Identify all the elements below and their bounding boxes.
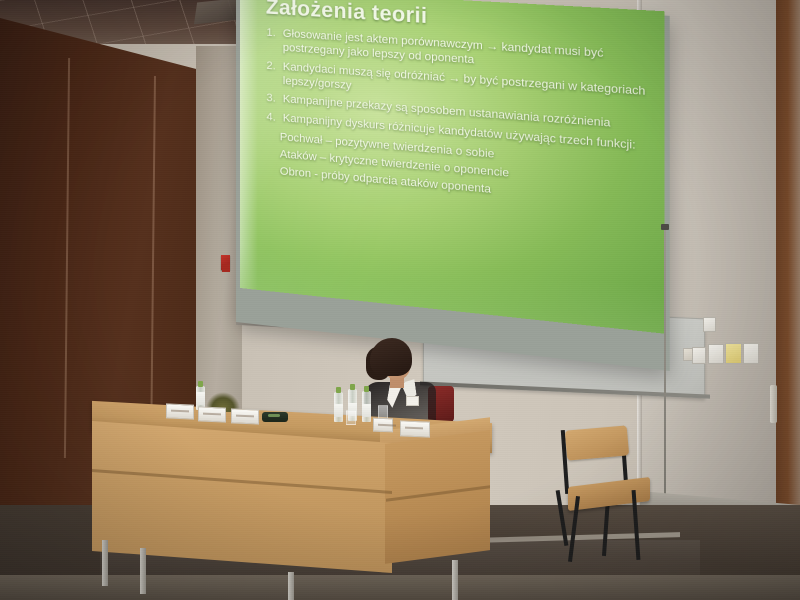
name-card	[166, 403, 194, 419]
wall-switch[interactable]	[703, 317, 716, 332]
empty-chair[interactable]	[548, 424, 654, 570]
panel-seam	[150, 76, 156, 456]
name-badge	[406, 396, 419, 406]
table-leg	[288, 572, 294, 600]
hair	[370, 338, 412, 376]
name-card	[231, 408, 259, 424]
chair-backrest	[565, 425, 629, 460]
bottle-label	[196, 392, 205, 405]
wall-outlet-yellow[interactable]	[725, 343, 742, 364]
list-number: 3.	[264, 91, 276, 106]
table-front-panel	[92, 421, 392, 573]
chair-leg	[556, 490, 569, 546]
chair-seat	[568, 477, 650, 511]
list-number: 1.	[264, 25, 276, 55]
door-handle[interactable]	[770, 385, 777, 423]
list-number: 4.	[264, 109, 276, 124]
wall-outlet[interactable]	[692, 347, 706, 364]
table-leg	[452, 560, 458, 600]
screen-pull-rod[interactable]	[664, 228, 666, 528]
wall-outlet[interactable]	[708, 344, 724, 364]
door[interactable]	[776, 0, 800, 560]
water-bottle	[362, 391, 371, 422]
red-alarm-box-lower	[222, 264, 230, 272]
screen-rod-cap	[661, 224, 669, 230]
wall-outlet[interactable]	[743, 343, 759, 364]
bottle-cap	[364, 386, 369, 392]
projection-screen: Założenia teorii 1. Głosowanie jest akte…	[240, 0, 665, 334]
table-leg	[102, 540, 108, 586]
bottle-label	[362, 404, 371, 417]
conference-room-photo: Założenia teorii 1. Głosowanie jest akte…	[0, 0, 800, 600]
name-card	[373, 418, 393, 433]
drinking-glass	[346, 410, 356, 425]
bottle-cap	[336, 387, 341, 393]
bottle-cap	[198, 381, 203, 387]
list-number: 2.	[264, 58, 276, 88]
bottle-label	[334, 404, 343, 417]
bottle-cap	[350, 384, 355, 390]
floor-front-strip	[0, 575, 800, 600]
slide-content: Założenia teorii 1. Głosowanie jest akte…	[250, 0, 658, 213]
name-card	[400, 420, 430, 437]
water-bottle	[334, 392, 343, 422]
panel-seam	[64, 58, 70, 458]
dark-desk-object	[262, 412, 288, 422]
table-leg	[140, 548, 146, 594]
name-card	[198, 406, 226, 422]
